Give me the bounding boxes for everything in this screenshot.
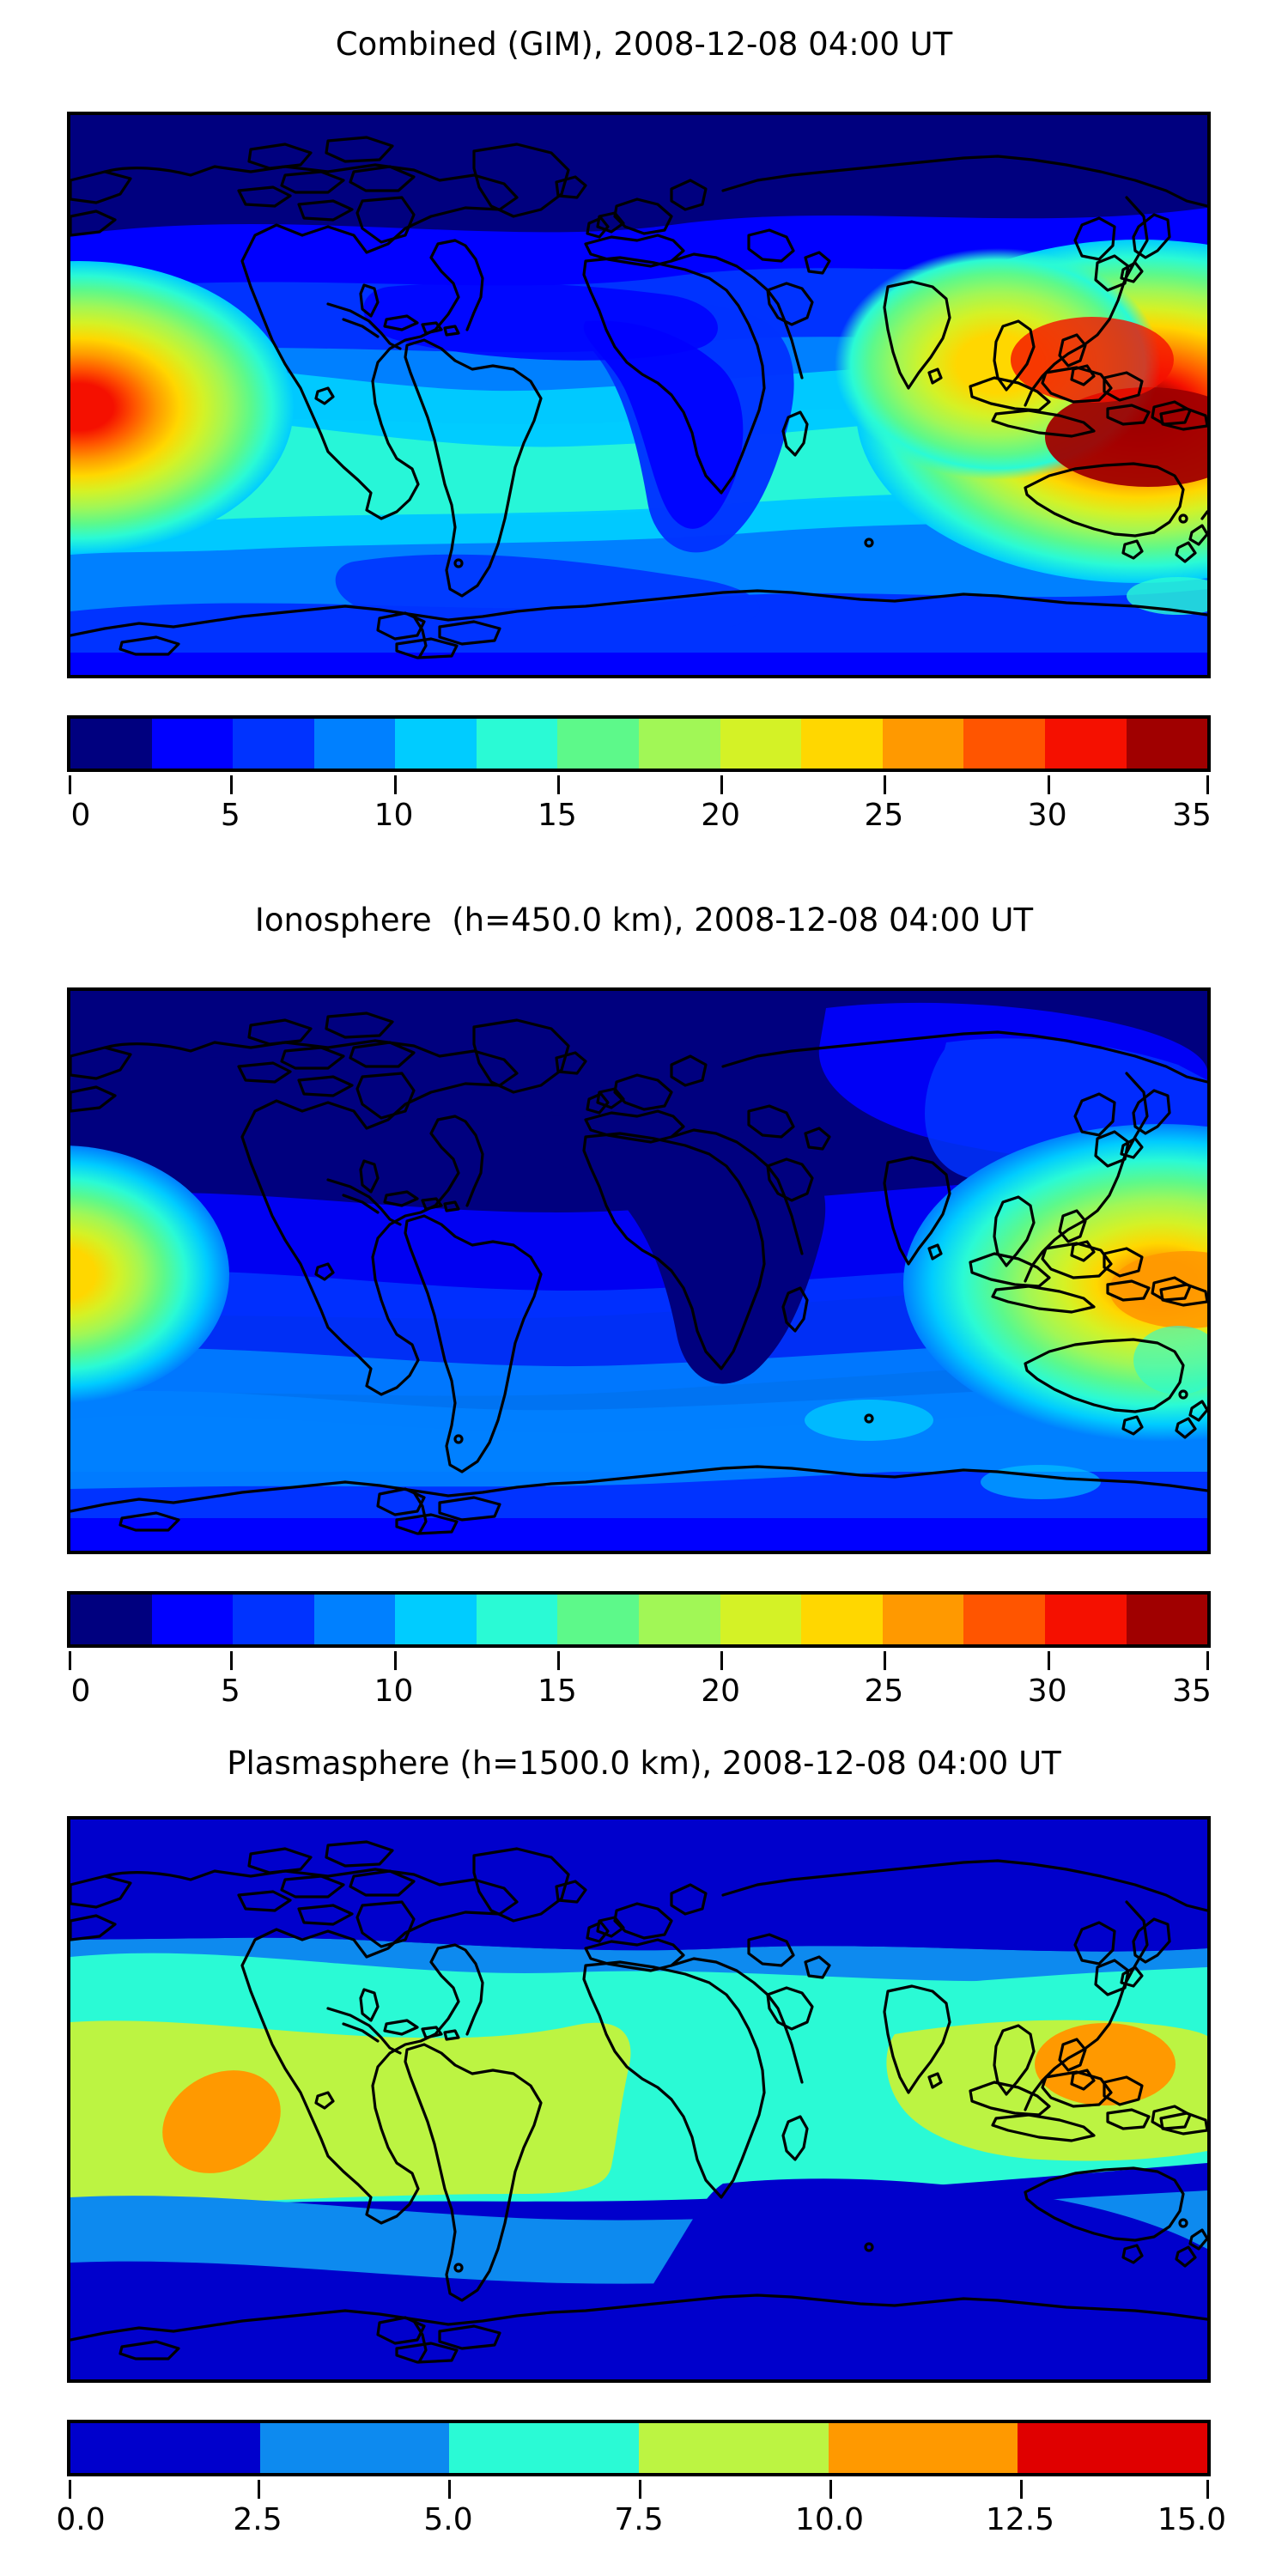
colorbar-tick-4 xyxy=(720,1651,723,1670)
colorbar-tick-label-3: 15 xyxy=(538,798,577,833)
colorbar-tick-0 xyxy=(69,775,71,794)
colorbar-strip-plasmasphere xyxy=(67,2420,1211,2476)
colorbar-tick-label-4: 10.0 xyxy=(795,2502,864,2537)
colorbar-segment-3 xyxy=(639,2423,829,2473)
colorbar-tick-3 xyxy=(639,2480,641,2499)
colorbar-segment-1 xyxy=(152,1595,234,1644)
colorbar-strip-combined xyxy=(67,715,1211,772)
colorbar-segment-9 xyxy=(801,719,883,769)
colorbar-segment-8 xyxy=(720,719,802,769)
colorbar-segment-0 xyxy=(70,719,152,769)
colorbar-segment-5 xyxy=(1018,2423,1207,2473)
colorbar-segment-12 xyxy=(1045,719,1127,769)
colorbar-segment-2 xyxy=(449,2423,639,2473)
colorbar-segment-4 xyxy=(395,719,477,769)
panel-title-ionosphere: Ionosphere (h=450.0 km), 2008-12-08 04:0… xyxy=(0,902,1288,939)
colorbar-segment-10 xyxy=(883,719,964,769)
colorbar-tick-4 xyxy=(829,2480,832,2499)
colorbar-tick-3 xyxy=(557,775,560,794)
colorbar-tick-label-1: 2.5 xyxy=(233,2502,282,2537)
colorbar-tick-6 xyxy=(1048,1651,1050,1670)
colorbar-tick-label-5: 25 xyxy=(865,1674,904,1709)
colorbar-combined: 05101520253035 xyxy=(67,715,1211,844)
colorbar-segment-11 xyxy=(963,719,1045,769)
colorbar-segment-13 xyxy=(1127,1595,1208,1644)
map-plasmasphere xyxy=(67,1816,1211,2383)
colorbar-segment-2 xyxy=(233,719,314,769)
colorbar-tick-3 xyxy=(557,1651,560,1670)
panel-title-plasmasphere: Plasmasphere (h=1500.0 km), 2008-12-08 0… xyxy=(0,1745,1288,1782)
colorbar-tick-label-3: 15 xyxy=(538,1674,577,1709)
colorbar-tick-1 xyxy=(230,1651,233,1670)
colorbar-tick-label-6: 15.0 xyxy=(1157,2502,1226,2537)
colorbar-segment-4 xyxy=(829,2423,1018,2473)
colorbar-segment-11 xyxy=(963,1595,1045,1644)
colorbar-labels-combined: 05101520253035 xyxy=(67,798,1211,837)
colorbar-segment-6 xyxy=(557,1595,639,1644)
colorbar-tick-2 xyxy=(394,775,397,794)
colorbar-labels-ionosphere: 05101520253035 xyxy=(67,1674,1211,1713)
colorbar-tick-label-1: 5 xyxy=(221,1674,240,1709)
map-ionosphere xyxy=(67,987,1211,1554)
panel-title-combined: Combined (GIM), 2008-12-08 04:00 UT xyxy=(0,26,1288,63)
colorbar-tick-7 xyxy=(1206,1651,1209,1670)
colorbar-segment-5 xyxy=(477,1595,558,1644)
colorbar-tick-label-4: 20 xyxy=(701,798,740,833)
colorbar-ticks-combined xyxy=(67,775,1211,796)
colorbar-segment-3 xyxy=(314,719,396,769)
colorbar-tick-label-7: 35 xyxy=(1172,798,1212,833)
colorbar-tick-label-5: 25 xyxy=(865,798,904,833)
colorbar-ionosphere: 05101520253035 xyxy=(67,1591,1211,1720)
panel-ionosphere: Ionosphere (h=450.0 km), 2008-12-08 04:0… xyxy=(0,876,1288,1735)
colorbar-tick-7 xyxy=(1206,775,1209,794)
colorbar-segment-6 xyxy=(557,719,639,769)
colorbar-segment-12 xyxy=(1045,1595,1127,1644)
colorbar-segment-1 xyxy=(260,2423,450,2473)
colorbar-segment-8 xyxy=(720,1595,802,1644)
colorbar-tick-label-0: 0.0 xyxy=(56,2502,105,2537)
colorbar-tick-label-2: 5.0 xyxy=(423,2502,472,2537)
colorbar-tick-6 xyxy=(1048,775,1050,794)
colorbar-segment-5 xyxy=(477,719,558,769)
colorbar-plasmasphere: 0.02.55.07.510.012.515.0 xyxy=(67,2420,1211,2549)
colorbar-segment-0 xyxy=(70,2423,260,2473)
colorbar-tick-label-0: 0 xyxy=(71,1674,91,1709)
colorbar-tick-2 xyxy=(448,2480,451,2499)
colorbar-tick-2 xyxy=(394,1651,397,1670)
colorbar-tick-label-6: 30 xyxy=(1028,1674,1067,1709)
colorbar-tick-label-2: 10 xyxy=(374,798,414,833)
colorbar-tick-label-2: 10 xyxy=(374,1674,414,1709)
colorbar-segment-4 xyxy=(395,1595,477,1644)
panel-plasmasphere: Plasmasphere (h=1500.0 km), 2008-12-08 0… xyxy=(0,1722,1288,2576)
colorbar-tick-label-4: 20 xyxy=(701,1674,740,1709)
colorbar-tick-label-6: 30 xyxy=(1028,798,1067,833)
colorbar-tick-5 xyxy=(1020,2480,1023,2499)
colorbar-tick-label-3: 7.5 xyxy=(614,2502,663,2537)
colorbar-tick-6 xyxy=(1206,2480,1209,2499)
panel-combined: Combined (GIM), 2008-12-08 04:00 UT xyxy=(0,0,1288,859)
colorbar-tick-label-7: 35 xyxy=(1172,1674,1212,1709)
colorbar-segment-9 xyxy=(801,1595,883,1644)
colorbar-tick-label-1: 5 xyxy=(221,798,240,833)
colorbar-tick-4 xyxy=(720,775,723,794)
colorbar-strip-ionosphere xyxy=(67,1591,1211,1648)
tec-map-figure: Combined (GIM), 2008-12-08 04:00 UT xyxy=(0,0,1288,2576)
colorbar-tick-5 xyxy=(884,1651,886,1670)
colorbar-segment-2 xyxy=(233,1595,314,1644)
map-combined xyxy=(67,112,1211,678)
colorbar-tick-label-5: 12.5 xyxy=(986,2502,1054,2537)
colorbar-segment-1 xyxy=(152,719,234,769)
colorbar-tick-1 xyxy=(230,775,233,794)
colorbar-tick-0 xyxy=(69,2480,71,2499)
colorbar-segment-3 xyxy=(314,1595,396,1644)
colorbar-tick-label-0: 0 xyxy=(71,798,91,833)
colorbar-segment-7 xyxy=(639,719,720,769)
colorbar-ticks-ionosphere xyxy=(67,1651,1211,1672)
colorbar-labels-plasmasphere: 0.02.55.07.510.012.515.0 xyxy=(67,2502,1211,2542)
colorbar-ticks-plasmasphere xyxy=(67,2480,1211,2500)
colorbar-tick-0 xyxy=(69,1651,71,1670)
colorbar-segment-7 xyxy=(639,1595,720,1644)
colorbar-tick-1 xyxy=(258,2480,260,2499)
colorbar-segment-10 xyxy=(883,1595,964,1644)
colorbar-segment-0 xyxy=(70,1595,152,1644)
colorbar-segment-13 xyxy=(1127,719,1208,769)
colorbar-tick-5 xyxy=(884,775,886,794)
